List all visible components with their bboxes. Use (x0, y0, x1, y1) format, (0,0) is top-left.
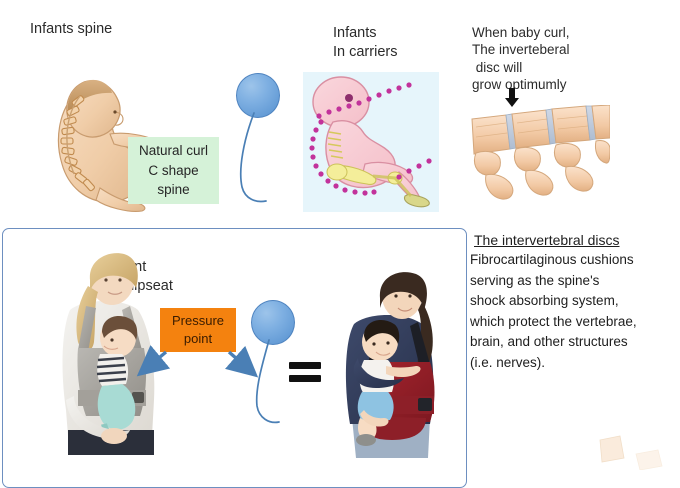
equals-bar-top (289, 362, 321, 369)
intervertebral-discs-body: Fibrocartilaginous cushions serving as t… (470, 250, 680, 373)
photo-correct-carry (330, 268, 450, 458)
partial-vertebra-fragment (596, 432, 666, 470)
balloon-string (247, 340, 317, 435)
slide-canvas: Infants spine Infants In carriers When b… (0, 0, 680, 470)
equals-sign (289, 362, 321, 382)
equals-bar-bottom (289, 375, 321, 382)
balloon-bulb-icon (251, 300, 295, 345)
intervertebral-discs-title: The intervertebral discs (474, 232, 620, 248)
